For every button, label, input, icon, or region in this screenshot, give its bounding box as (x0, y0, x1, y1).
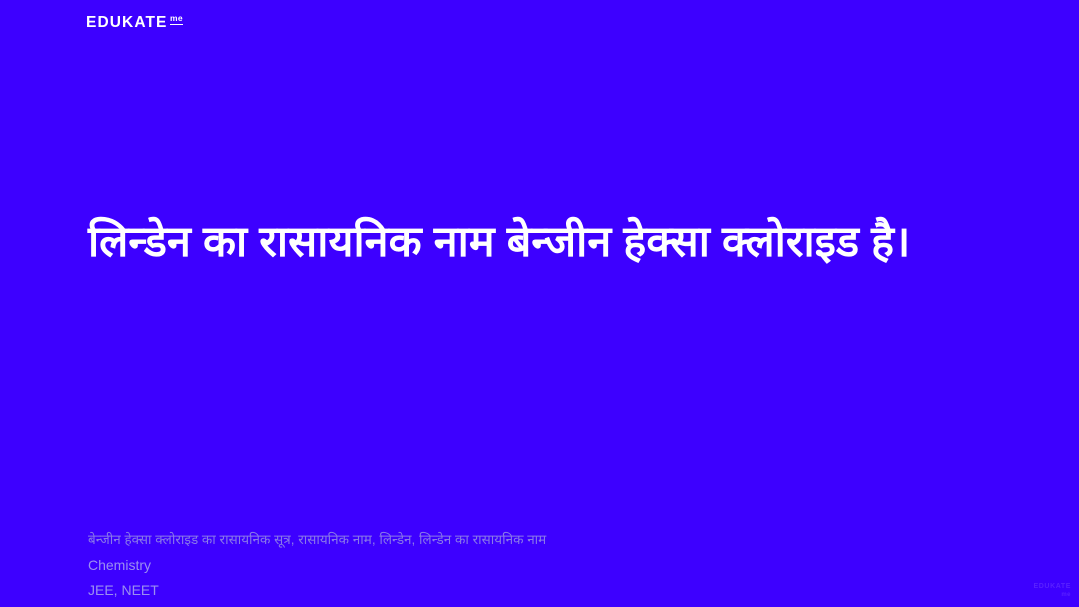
corner-watermark: EDUKATE me (1033, 583, 1071, 599)
brand-logo[interactable]: EDUKATE me (86, 15, 183, 31)
tag-list[interactable]: बेन्जीन हेक्सा क्लोराइड का रासायनिक सूत्… (88, 533, 988, 547)
slide-canvas: EDUKATE me लिन्डेन का रासायनिक नाम बेन्ज… (0, 0, 1079, 607)
meta-block: बेन्जीन हेक्सा क्लोराइड का रासायनिक सूत्… (88, 533, 988, 604)
brand-suffix: me (170, 14, 183, 25)
brand-name: EDUKATE (86, 15, 167, 31)
page-title: लिन्डेन का रासायनिक नाम बेन्जीन हेक्सा क… (88, 214, 998, 271)
subject-label[interactable]: Chemistry (88, 558, 988, 572)
watermark-suffix: me (1033, 592, 1071, 600)
watermark-brand: EDUKATE (1033, 583, 1071, 592)
headline-container: लिन्डेन का रासायनिक नाम बेन्जीन हेक्सा क… (88, 214, 998, 271)
exam-label[interactable]: JEE, NEET (88, 583, 988, 597)
